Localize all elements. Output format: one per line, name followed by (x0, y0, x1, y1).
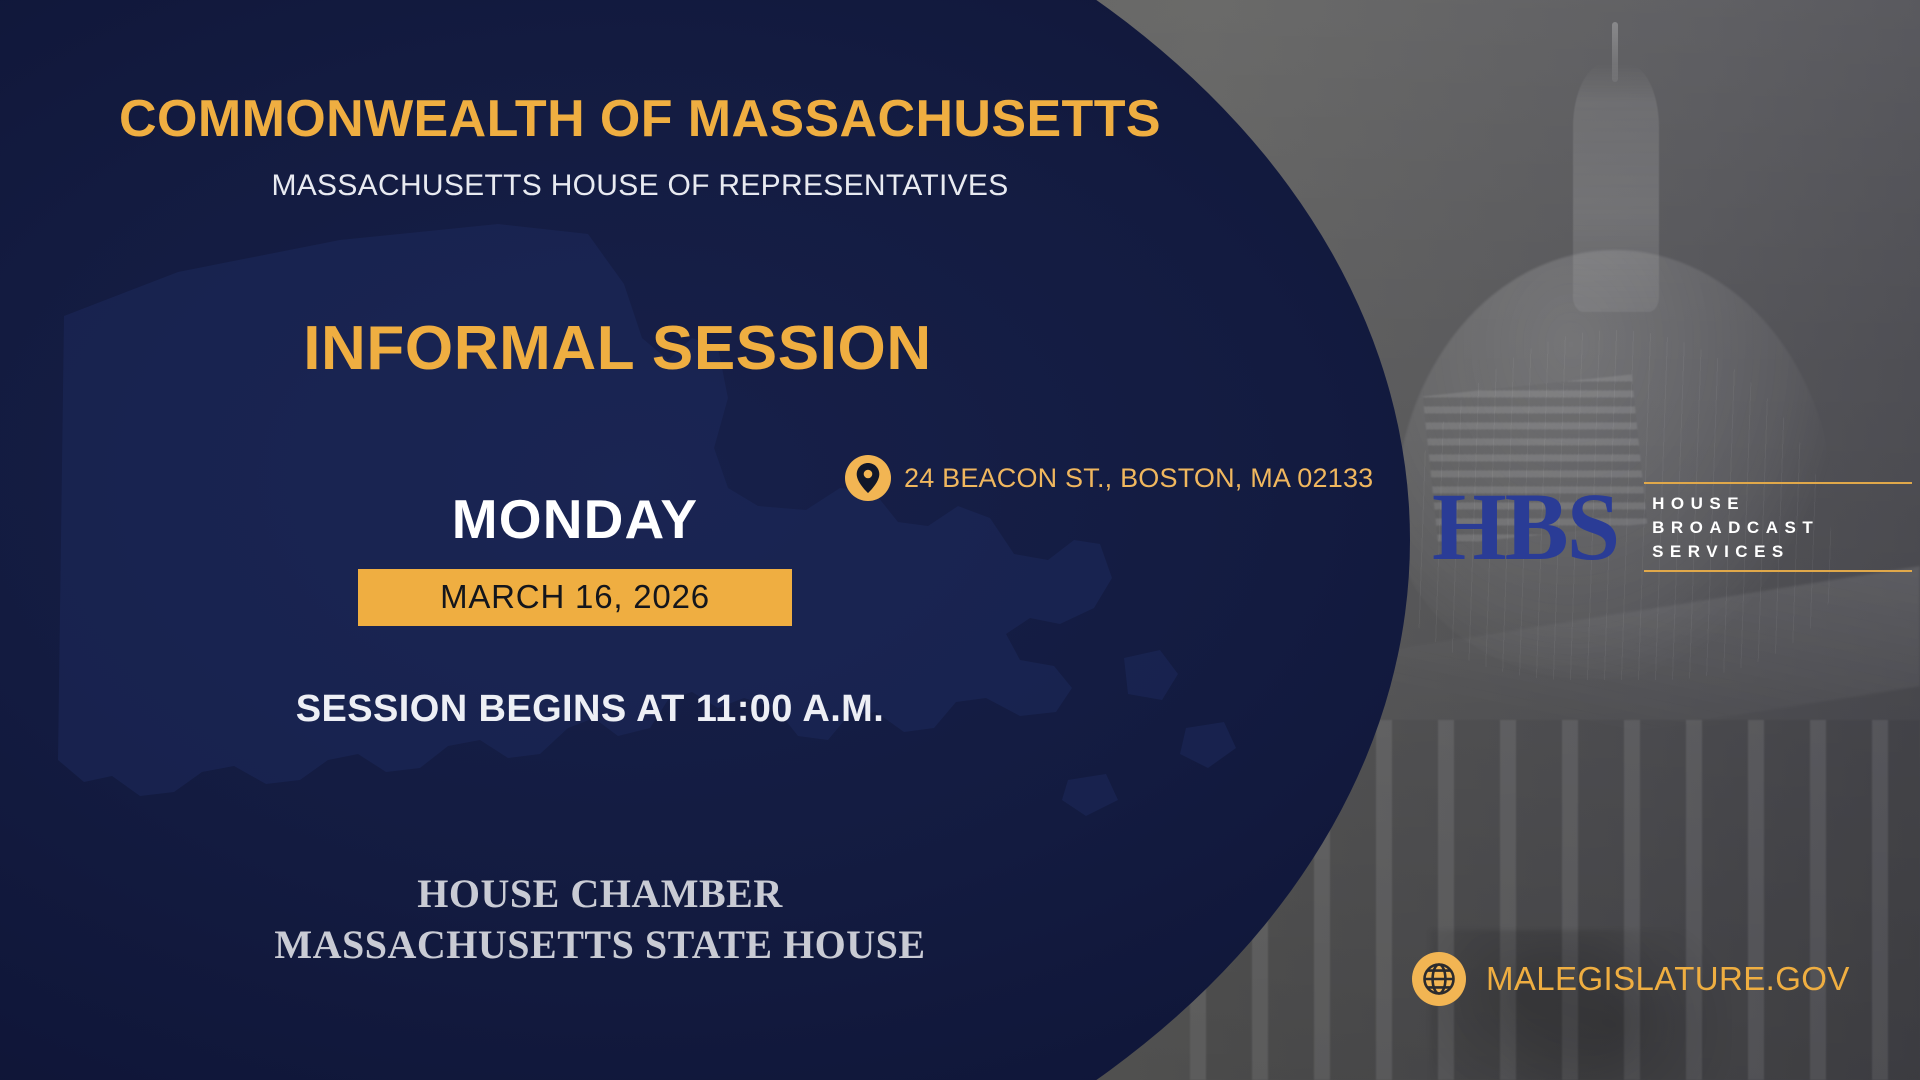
hbs-wordmark: HOUSE BROADCAST SERVICES (1644, 482, 1912, 572)
date-banner: MARCH 16, 2026 (358, 569, 792, 626)
website-row: MALEGISLATURE.GOV (1412, 952, 1850, 1006)
page-title: COMMONWEALTH OF MASSACHUSETTS (0, 92, 1280, 147)
hbs-logo: HBS HOUSE BROADCAST SERVICES (1432, 482, 1912, 572)
hbs-wordmark-line-2: BROADCAST (1652, 519, 1912, 536)
venue-building: MASSACHUSETTS STATE HOUSE (0, 919, 1200, 970)
website-url: MALEGISLATURE.GOV (1486, 960, 1850, 998)
venue-chamber: HOUSE CHAMBER (0, 868, 1200, 919)
weekday-label: MONDAY (358, 492, 792, 547)
session-type-heading: INFORMAL SESSION (0, 318, 1235, 380)
hbs-rule-bottom (1644, 570, 1912, 572)
date-block: MONDAY MARCH 16, 2026 (358, 492, 792, 626)
venue-block: HOUSE CHAMBER MASSACHUSETTS STATE HOUSE (0, 868, 1200, 970)
hbs-wordmark-line-3: SERVICES (1652, 543, 1912, 560)
hbs-wordmark-lines: HOUSE BROADCAST SERVICES (1644, 484, 1912, 570)
hbs-monogram: HBS (1432, 484, 1618, 570)
title-block: COMMONWEALTH OF MASSACHUSETTS MASSACHUSE… (0, 92, 1280, 202)
legislative-body-subtitle: MASSACHUSETTS HOUSE OF REPRESENTATIVES (0, 169, 1280, 202)
hbs-wordmark-line-1: HOUSE (1652, 495, 1912, 512)
session-slate: COMMONWEALTH OF MASSACHUSETTS MASSACHUSE… (0, 0, 1920, 1080)
slate-content: COMMONWEALTH OF MASSACHUSETTS MASSACHUSE… (0, 0, 1920, 1080)
venue-address: 24 BEACON ST., BOSTON, MA 02133 (904, 463, 1373, 494)
location-pin-icon (845, 455, 891, 501)
globe-icon (1412, 952, 1466, 1006)
session-start-time: SESSION BEGINS AT 11:00 A.M. (0, 690, 1180, 728)
address-row: 24 BEACON ST., BOSTON, MA 02133 (845, 455, 1373, 501)
